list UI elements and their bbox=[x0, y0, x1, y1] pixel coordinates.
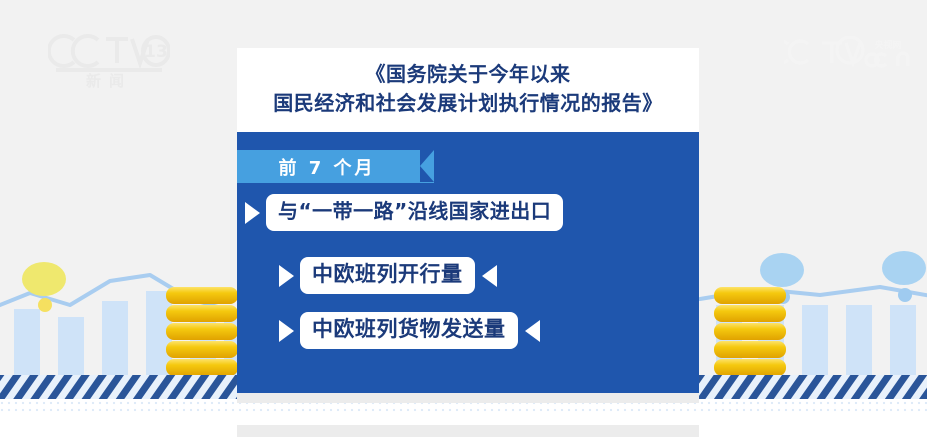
svg-text:13: 13 bbox=[144, 42, 168, 62]
ribbon-notch bbox=[420, 150, 434, 182]
triangle-right-icon-3 bbox=[279, 320, 294, 342]
title-line-2: 国民经济和社会发展计划执行情况的报告》 bbox=[237, 89, 699, 118]
stat-row-1: 与“一带一路”沿线国家进出口 bbox=[245, 194, 563, 231]
page-title: 《国务院关于今年以来 国民经济和社会发展计划执行情况的报告》 bbox=[237, 60, 699, 118]
period-ribbon: 前 7 个月 bbox=[237, 150, 434, 183]
screen: 13 新闻 央视网 《国务院关于今年以来 国民经济和社会发展计划执行情况的报告》 bbox=[0, 0, 927, 437]
triangle-right-icon-1 bbox=[245, 202, 260, 224]
statistics-panel: 增长 7.4 % bbox=[237, 132, 699, 393]
svg-text:新闻: 新闻 bbox=[86, 72, 132, 90]
stat-label-3: 中欧班列货物发送量 bbox=[300, 312, 518, 349]
triangle-left-icon-3 bbox=[525, 320, 540, 342]
cctv-com-watermark-logo: 央视网 bbox=[784, 36, 912, 70]
stat-row-2: 中欧班列开行量 bbox=[279, 257, 499, 294]
svg-text:央视网: 央视网 bbox=[874, 39, 901, 51]
stat-label-2: 中欧班列开行量 bbox=[300, 257, 475, 294]
title-line-1: 《国务院关于今年以来 bbox=[366, 62, 571, 86]
cctv13-watermark-logo: 13 新闻 bbox=[48, 28, 170, 90]
report-card: 《国务院关于今年以来 国民经济和社会发展计划执行情况的报告》 bbox=[237, 48, 699, 393]
card-bottom-strip bbox=[237, 393, 699, 403]
triangle-left-icon-2 bbox=[482, 265, 497, 287]
period-label: 前 7 个月 bbox=[237, 150, 417, 183]
stat-label-1: 与“一带一路”沿线国家进出口 bbox=[266, 194, 563, 231]
triangle-right-icon-2 bbox=[279, 265, 294, 287]
card-lower-strip bbox=[237, 425, 699, 437]
stat-row-3: 中欧班列货物发送量 bbox=[279, 312, 542, 349]
